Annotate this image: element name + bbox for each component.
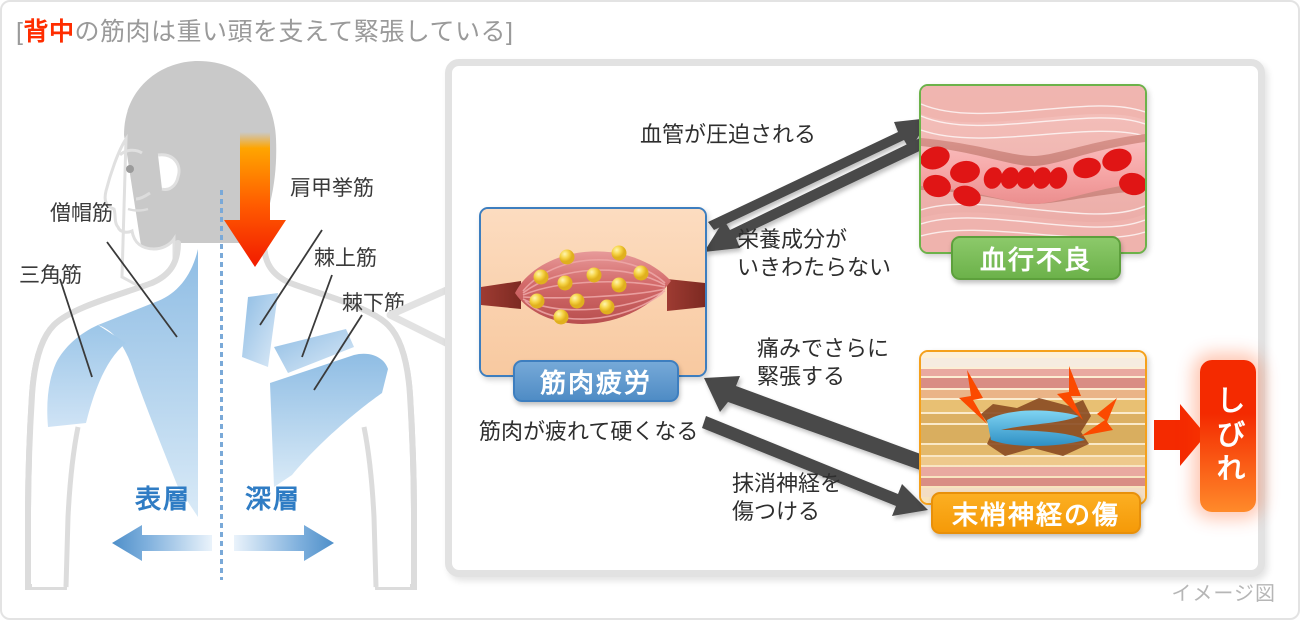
- fatigued-muscle-illustration: [481, 209, 705, 375]
- image-caption: イメージ図: [1171, 577, 1276, 606]
- node-muscle-fatigue: 筋肉疲労: [479, 207, 707, 377]
- leader-supraspinatus: [302, 275, 332, 357]
- label-pain-tension: 痛みでさらに 緊張する: [757, 335, 889, 390]
- badge-poor-circulation: 血行不良: [951, 236, 1121, 280]
- node-poor-circulation: 血行不良: [919, 84, 1147, 254]
- numbness-arrow-icon: [1154, 404, 1206, 466]
- diagram-root: [背中の筋肉は重い頭を支えて緊張している]: [0, 0, 1300, 620]
- constricted-vessel-illustration: [921, 86, 1145, 252]
- blood-vessel-image: [919, 84, 1147, 254]
- badge-numbness: しびれ: [1200, 360, 1256, 512]
- damaged-nerve-illustration: [921, 352, 1145, 503]
- badge-poor-circulation-label: 血行不良: [980, 240, 1092, 277]
- label-nerve-hurt: 抹消神経を 傷つける: [732, 470, 842, 525]
- label-levator-scapulae: 肩甲挙筋: [290, 172, 374, 202]
- superficial-arrow-icon: [112, 525, 212, 561]
- leader-levator: [260, 230, 322, 325]
- title-bracket-close: ]: [506, 18, 513, 46]
- node-nerve-damage: 末梢神経の傷: [919, 350, 1147, 505]
- label-superficial-layer: 表層: [135, 479, 191, 516]
- title-keyword: 背中: [23, 18, 74, 46]
- anatomy-illustration: 僧帽筋 三角筋 肩甲挙筋 棘上筋 棘下筋 表層 深層: [2, 47, 442, 587]
- label-no-nutrients: 栄養成分が いきわたらない: [737, 226, 891, 281]
- title-rest: の筋肉は重い頭を支えて緊張している: [74, 18, 506, 46]
- badge-muscle-fatigue-label: 筋肉疲労: [540, 363, 652, 400]
- badge-nerve-damage-label: 末梢神経の傷: [952, 495, 1120, 532]
- label-trapezius: 僧帽筋: [50, 197, 113, 227]
- label-muscle-hardens: 筋肉が疲れて硬くなる: [479, 418, 698, 446]
- nerve-damage-image: [919, 350, 1147, 505]
- badge-nerve-damage: 末梢神経の傷: [931, 492, 1141, 534]
- label-leader-lines: [2, 47, 442, 587]
- label-vessel-compressed: 血管が圧迫される: [640, 121, 816, 149]
- label-deep-layer: 深層: [245, 479, 301, 516]
- leader-deltoid: [60, 279, 92, 377]
- label-deltoid: 三角筋: [19, 259, 82, 289]
- muscle-fatigue-image: [479, 207, 707, 377]
- label-supraspinatus: 棘上筋: [314, 242, 377, 272]
- page-title: [背中の筋肉は重い頭を支えて緊張している]: [16, 12, 513, 48]
- badge-numbness-label: しびれ: [1207, 385, 1249, 487]
- leader-trapezius: [107, 242, 177, 337]
- leader-infraspinatus: [314, 315, 362, 390]
- deep-arrow-icon: [234, 525, 334, 561]
- badge-muscle-fatigue: 筋肉疲労: [513, 360, 679, 402]
